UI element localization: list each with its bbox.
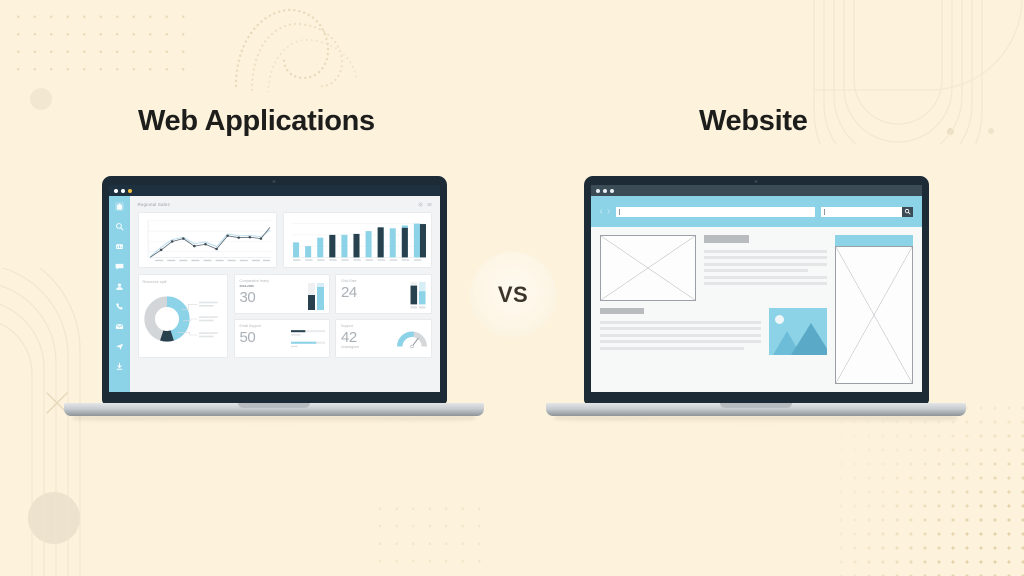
page-title-website: Website: [699, 105, 808, 138]
app-sidebar[interactable]: [109, 196, 130, 392]
kpi-value: 24: [341, 285, 357, 301]
text-line: [704, 250, 827, 253]
kpi-visual-bars: [410, 279, 427, 310]
bar-chart-card: [283, 212, 432, 268]
text-line: [704, 269, 809, 272]
website-grid: [600, 235, 913, 384]
back-button[interactable]: ‹: [600, 207, 603, 217]
mini-bar-pair: [410, 280, 427, 310]
close-button-dot[interactable]: [596, 189, 600, 193]
sidebar-item-search[interactable]: [115, 222, 124, 231]
browser-toolbar: ‹ ›: [591, 196, 922, 227]
circle-decoration-top-left: [30, 88, 52, 110]
kpi-row-bottom: Email Support 50: [234, 319, 432, 359]
text-line: [704, 276, 827, 279]
minimize-button-dot[interactable]: [121, 189, 125, 193]
donut-chart: [143, 286, 223, 352]
laptop-screen-left: Regional Sales: [109, 185, 440, 392]
magnifier-icon: [904, 208, 911, 215]
sidebar-item-download[interactable]: [115, 362, 124, 371]
gauge-chart: [397, 324, 427, 354]
dashboard-main: Regional Sales: [130, 196, 440, 392]
kpi-value: 42: [341, 330, 359, 346]
kpi-caption: Support: [341, 324, 359, 329]
kpi-card-support: Support 42 Unassigned: [335, 319, 432, 359]
laptop-shadow-left: [73, 416, 475, 423]
donut-chart-title: Resource split: [143, 280, 223, 284]
text-line: [600, 340, 761, 343]
website-main-column: [600, 235, 827, 384]
text-line: [600, 334, 761, 337]
forward-button[interactable]: ›: [607, 207, 610, 217]
gear-icon[interactable]: [418, 202, 423, 207]
dot-grid-decoration-bottom: [372, 500, 492, 570]
text-line: [600, 347, 745, 350]
kpi-card-comparative-yearly: Comparative Yearly 2019-2020 30: [234, 274, 331, 314]
dot-decoration-right-a: [947, 128, 954, 135]
maximize-button-dot[interactable]: [128, 189, 132, 193]
search-group: [821, 207, 913, 217]
versus-label: VS: [498, 282, 528, 308]
text-line: [600, 321, 761, 324]
text-caret: [824, 209, 825, 215]
sidebar-item-profile[interactable]: [115, 282, 124, 291]
app-titlebar: [109, 185, 440, 196]
laptop-base-right: [546, 403, 966, 416]
dashboard-row-charts: [138, 212, 432, 268]
laptop-bezel-left: Regional Sales: [102, 176, 447, 404]
close-button-dot[interactable]: [114, 189, 118, 193]
rounded-corner-decoration: [814, 0, 1024, 92]
webcam-icon: [755, 180, 758, 183]
line-chart: [142, 217, 273, 264]
kpi-subcaption: Unassigned: [341, 345, 359, 350]
dashboard-row-kpis: Resource split: [138, 274, 432, 358]
page-title-web-applications: Web Applications: [138, 105, 375, 138]
sidebar-item-send[interactable]: [115, 342, 124, 351]
menu-icon[interactable]: [427, 202, 432, 207]
kpi-visual-gauge: [397, 324, 427, 355]
laptop-web-application: Regional Sales: [64, 176, 484, 423]
concentric-arcs-decoration-right: [794, 0, 1024, 144]
inline-photo-mountain: [769, 308, 827, 355]
kpi-text-block: Support 42 Unassigned: [341, 324, 359, 355]
article-heading-block: [704, 235, 749, 243]
sidebar-item-phone[interactable]: [115, 302, 124, 311]
laptop-shadow-right: [555, 416, 957, 423]
kpi-text-block: Email Support 50: [240, 324, 261, 355]
sidebar-banner-block: [835, 235, 913, 246]
sidebar-image-placeholder: [835, 246, 913, 384]
webcam-icon: [273, 180, 276, 183]
app-body: Regional Sales: [109, 196, 440, 392]
dot-fan-decoration-bottom-right: [834, 401, 1024, 576]
section-heading-block: [600, 308, 644, 314]
circle-decoration-bottom-left: [28, 492, 80, 544]
kpi-row-top: Comparative Yearly 2019-2020 30: [234, 274, 432, 314]
url-input[interactable]: [616, 207, 814, 217]
kpi-card-group: Comparative Yearly 2019-2020 30: [234, 274, 432, 358]
browser-titlebar: [591, 185, 922, 196]
text-caret: [619, 209, 620, 215]
dot-decoration-right-b: [988, 128, 994, 134]
dashboard-header-actions: [418, 202, 432, 207]
kpi-visual-bars: [308, 279, 325, 310]
dotted-swirl-decoration: [232, 2, 362, 92]
kpi-value: 50: [240, 330, 261, 346]
mini-bar-pair: [308, 280, 325, 310]
search-button[interactable]: [902, 207, 913, 217]
text-line: [704, 263, 827, 266]
dashboard-title: Regional Sales: [138, 202, 170, 207]
slide-canvas: Web Applications Website VS: [0, 0, 1024, 576]
kpi-card-email-support: Email Support 50: [234, 319, 331, 359]
laptop-screen-right: ‹ ›: [591, 185, 922, 392]
hero-image-placeholder: [600, 235, 696, 301]
donut-chart-svg: [143, 286, 223, 352]
website-content: [591, 227, 922, 392]
website-hero-row: [600, 235, 827, 301]
website-article-block: [704, 235, 827, 301]
kpi-visual-progress: [291, 324, 325, 355]
donut-chart-card: Resource split: [138, 274, 228, 358]
mountain-shape-front: [791, 323, 827, 355]
browser-nav-arrows: ‹ ›: [600, 207, 611, 217]
sidebar-item-messages[interactable]: [115, 262, 124, 271]
minimize-button-dot[interactable]: [603, 189, 607, 193]
text-line: [704, 256, 827, 259]
text-line: [704, 282, 827, 285]
text-line: [600, 327, 761, 330]
search-input[interactable]: [821, 207, 902, 217]
maximize-button-dot[interactable]: [610, 189, 614, 193]
kpi-text-block: Comparative Yearly 2019-2020 30: [240, 279, 269, 310]
sun-shape: [775, 315, 784, 324]
line-chart-card: [138, 212, 277, 268]
sidebar-item-mail[interactable]: [115, 322, 124, 331]
kpi-caption: Email Support: [240, 324, 261, 329]
laptop-bezel-right: ‹ ›: [584, 176, 929, 404]
website-section-block: [600, 308, 761, 384]
mini-progress-bars: [291, 324, 325, 354]
website-sidebar-column: [835, 235, 913, 384]
kpi-card-click-rate: Click Rate 24: [335, 274, 432, 314]
kpi-text-block: Click Rate 24: [341, 279, 357, 310]
bar-chart: [287, 217, 428, 264]
sidebar-item-home[interactable]: [115, 202, 124, 211]
sidebar-item-analytics[interactable]: [115, 242, 124, 251]
kpi-value: 30: [240, 290, 269, 306]
laptop-base-left: [64, 403, 484, 416]
website-lower-row: [600, 308, 827, 384]
laptop-website: ‹ ›: [546, 176, 966, 423]
dot-grid-decoration-top-left: [10, 8, 190, 80]
dashboard-header: Regional Sales: [138, 202, 432, 207]
